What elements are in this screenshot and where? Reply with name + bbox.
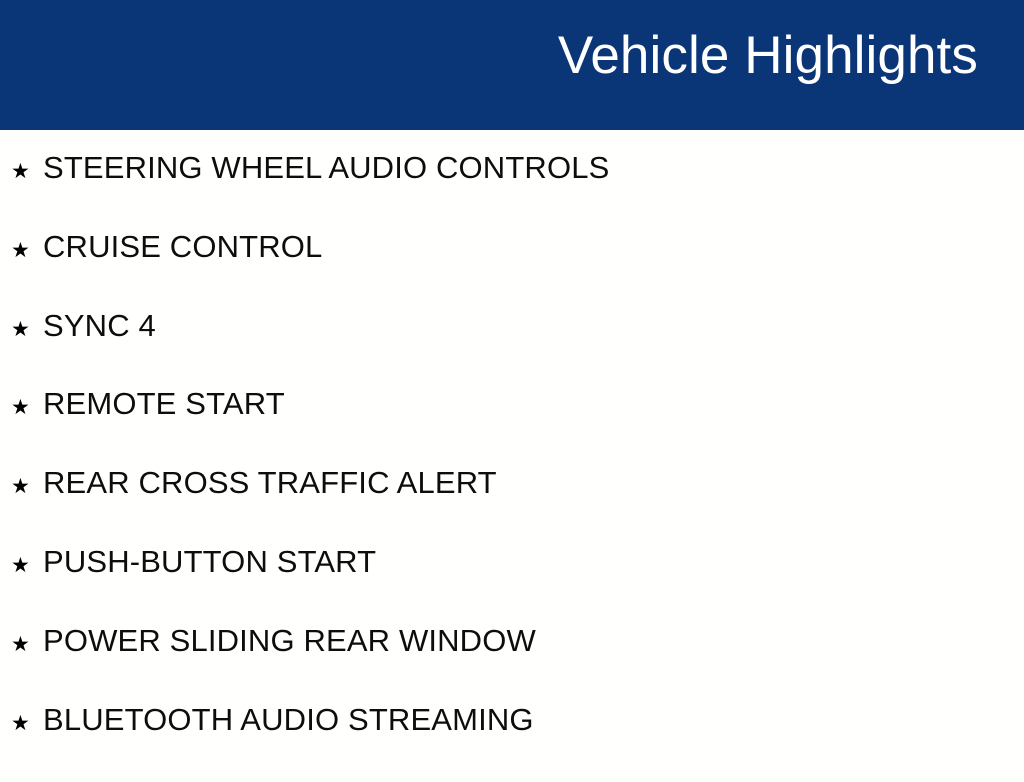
- list-item: ★BLUETOOTH AUDIO STREAMING: [0, 704, 1024, 782]
- list-item: ★SYNC 4: [0, 310, 1024, 389]
- star-icon: ★: [11, 555, 43, 576]
- highlight-label: STEERING WHEEL AUDIO CONTROLS: [43, 152, 1024, 183]
- highlight-label: PUSH-BUTTON START: [43, 546, 1024, 577]
- highlight-label: CRUISE CONTROL: [43, 231, 1024, 262]
- highlight-label: SYNC 4: [43, 310, 1024, 341]
- header-banner: Vehicle Highlights: [0, 0, 1024, 130]
- star-icon: ★: [11, 319, 43, 340]
- highlight-label: REAR CROSS TRAFFIC ALERT: [43, 467, 1024, 498]
- vehicle-highlights-list: ★STEERING WHEEL AUDIO CONTROLS★CRUISE CO…: [0, 130, 1024, 782]
- list-item: ★CRUISE CONTROL: [0, 231, 1024, 310]
- list-item: ★REAR CROSS TRAFFIC ALERT: [0, 467, 1024, 546]
- list-item: ★STEERING WHEEL AUDIO CONTROLS: [0, 130, 1024, 231]
- highlight-label: POWER SLIDING REAR WINDOW: [43, 625, 1024, 656]
- star-icon: ★: [11, 476, 43, 497]
- star-icon: ★: [11, 397, 43, 418]
- page-title: Vehicle Highlights: [558, 24, 978, 88]
- star-icon: ★: [11, 713, 43, 734]
- star-icon: ★: [11, 240, 43, 261]
- star-icon: ★: [11, 161, 43, 182]
- star-icon: ★: [11, 634, 43, 655]
- list-item: ★PUSH-BUTTON START: [0, 546, 1024, 625]
- vehicle-highlights-slide: Vehicle Highlights ★STEERING WHEEL AUDIO…: [0, 0, 1024, 768]
- list-item: ★REMOTE START: [0, 388, 1024, 467]
- highlight-label: REMOTE START: [43, 388, 1024, 419]
- list-item: ★POWER SLIDING REAR WINDOW: [0, 625, 1024, 704]
- highlight-label: BLUETOOTH AUDIO STREAMING: [43, 704, 1024, 735]
